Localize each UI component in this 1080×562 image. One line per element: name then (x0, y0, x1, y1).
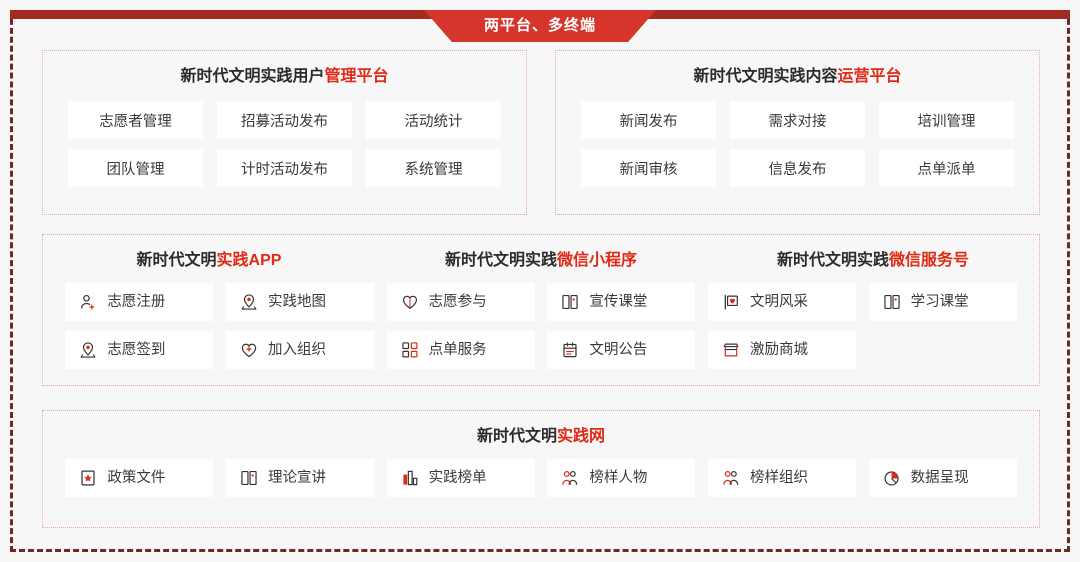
title-plain: 新时代文明实践内容 (693, 68, 837, 85)
panel-user-platform: 新时代文明实践用户管理平台 志愿者管理 招募活动发布 活动统计 团队管理 计时活… (42, 50, 527, 215)
tile-label: 榜样人物 (589, 471, 647, 486)
tile-practice-ranking[interactable]: 实践榜单 (387, 459, 535, 497)
tile-label: 激励商城 (750, 343, 808, 358)
tile-publicity-classroom[interactable]: 宣传课堂 (547, 283, 695, 321)
tile-label: 点单服务 (429, 343, 487, 358)
tile-information-publish[interactable]: 信息发布 (730, 149, 865, 187)
tile-news-review[interactable]: 新闻审核 (581, 149, 716, 187)
client-title-app: 新时代文明实践APP (43, 253, 375, 269)
tile-label: 实践榜单 (429, 471, 487, 486)
title-highlight: 管理平台 (325, 68, 389, 85)
tile-activity-statistics[interactable]: 活动统计 (366, 101, 501, 139)
title-highlight: 实践APP (217, 252, 282, 269)
tile-news-publish[interactable]: 新闻发布 (581, 101, 716, 139)
title-highlight: 微信小程序 (557, 252, 637, 269)
tile-order-service[interactable]: 点单服务 (387, 331, 535, 369)
two-people-icon (561, 469, 579, 487)
tile-volunteer-registration[interactable]: 志愿注册 (65, 283, 213, 321)
tile-role-model-organization[interactable]: 榜样组织 (708, 459, 856, 497)
client-title-service-account: 新时代文明实践微信服务号 (707, 253, 1039, 269)
open-book-icon (883, 293, 901, 311)
two-people-icon (722, 469, 740, 487)
tile-label: 志愿签到 (107, 343, 165, 358)
tile-label: 志愿注册 (107, 295, 165, 310)
panel-content-platform-title: 新时代文明实践内容运营平台 (556, 69, 1039, 85)
pie-chart-icon (883, 469, 901, 487)
blocks-icon (401, 341, 419, 359)
panel-content-platform-tiles: 新闻发布 需求对接 培训管理 新闻审核 信息发布 点单派单 (556, 101, 1039, 187)
panel-user-platform-title: 新时代文明实践用户管理平台 (43, 69, 526, 85)
tile-volunteer-management[interactable]: 志愿者管理 (68, 101, 203, 139)
tile-civilization-style[interactable]: 文明风采 (708, 283, 856, 321)
heart-icon (401, 293, 419, 311)
star-document-icon (79, 469, 97, 487)
panel-client-terminals: 新时代文明实践APP 新时代文明实践微信小程序 新时代文明实践微信服务号 志愿注… (42, 234, 1040, 386)
bar-chart-icon (401, 469, 419, 487)
map-pin-icon (79, 341, 97, 359)
heart-square-icon (722, 293, 740, 311)
tile-label: 榜样组织 (750, 471, 808, 486)
tile-volunteer-participation[interactable]: 志愿参与 (387, 283, 535, 321)
tile-label: 宣传课堂 (589, 295, 647, 310)
tile-policy-documents[interactable]: 政策文件 (65, 459, 213, 497)
tile-label: 加入组织 (268, 343, 326, 358)
tile-volunteer-checkin[interactable]: 志愿签到 (65, 331, 213, 369)
title-plain: 新时代文明 (477, 428, 557, 445)
tile-recruitment-activity-publish[interactable]: 招募活动发布 (217, 101, 352, 139)
panel-user-platform-tiles: 志愿者管理 招募活动发布 活动统计 团队管理 计时活动发布 系统管理 (43, 101, 526, 187)
tile-label: 政策文件 (107, 471, 165, 486)
calendar-icon (561, 341, 579, 359)
title-plain: 新时代文明实践用户 (180, 68, 324, 85)
open-book-icon (561, 293, 579, 311)
panel-practice-web-title: 新时代文明实践网 (43, 429, 1039, 445)
tile-timed-activity-publish[interactable]: 计时活动发布 (217, 149, 352, 187)
title-highlight: 运营平台 (838, 68, 902, 85)
client-titles-row: 新时代文明实践APP 新时代文明实践微信小程序 新时代文明实践微信服务号 (43, 253, 1039, 269)
web-tiles-grid: 政策文件 理论宣讲 实践榜单 (43, 459, 1039, 497)
title-highlight: 微信服务号 (889, 252, 969, 269)
tile-label: 志愿参与 (429, 295, 487, 310)
tile-practice-map[interactable]: 实践地图 (226, 283, 374, 321)
tile-study-classroom[interactable]: 学习课堂 (869, 283, 1017, 321)
panel-content-platform: 新时代文明实践内容运营平台 新闻发布 需求对接 培训管理 新闻审核 信息发布 点… (555, 50, 1040, 215)
tile-label: 实践地图 (268, 295, 326, 310)
tile-order-dispatch[interactable]: 点单派单 (879, 149, 1014, 187)
heart-add-icon (240, 341, 258, 359)
tile-civilization-announcement[interactable]: 文明公告 (547, 331, 695, 369)
client-tiles-grid: 志愿注册 实践地图 志愿参与 (43, 283, 1039, 369)
tile-theory-lecture[interactable]: 理论宣讲 (226, 459, 374, 497)
shop-icon (722, 341, 740, 359)
tile-label: 学习课堂 (911, 295, 969, 310)
panel-practice-web: 新时代文明实践网 政策文件 理论宣讲 (42, 410, 1040, 528)
tile-training-management[interactable]: 培训管理 (879, 101, 1014, 139)
tile-label: 数据呈现 (911, 471, 969, 486)
title-plain: 新时代文明实践 (445, 252, 557, 269)
tile-system-management[interactable]: 系统管理 (366, 149, 501, 187)
tile-incentive-mall[interactable]: 激励商城 (708, 331, 856, 369)
tile-label: 文明公告 (589, 343, 647, 358)
tile-team-management[interactable]: 团队管理 (68, 149, 203, 187)
title-highlight: 实践网 (557, 428, 605, 445)
map-pin-icon (240, 293, 258, 311)
title-plain: 新时代文明 (137, 252, 217, 269)
tile-data-presentation[interactable]: 数据呈现 (869, 459, 1017, 497)
person-add-icon (79, 293, 97, 311)
tile-join-organization[interactable]: 加入组织 (226, 331, 374, 369)
tile-label: 理论宣讲 (268, 471, 326, 486)
open-book-icon (240, 469, 258, 487)
tile-demand-matching[interactable]: 需求对接 (730, 101, 865, 139)
client-title-miniprogram: 新时代文明实践微信小程序 (375, 253, 707, 269)
tile-role-model-person[interactable]: 榜样人物 (547, 459, 695, 497)
tile-label: 文明风采 (750, 295, 808, 310)
title-plain: 新时代文明实践 (777, 252, 889, 269)
